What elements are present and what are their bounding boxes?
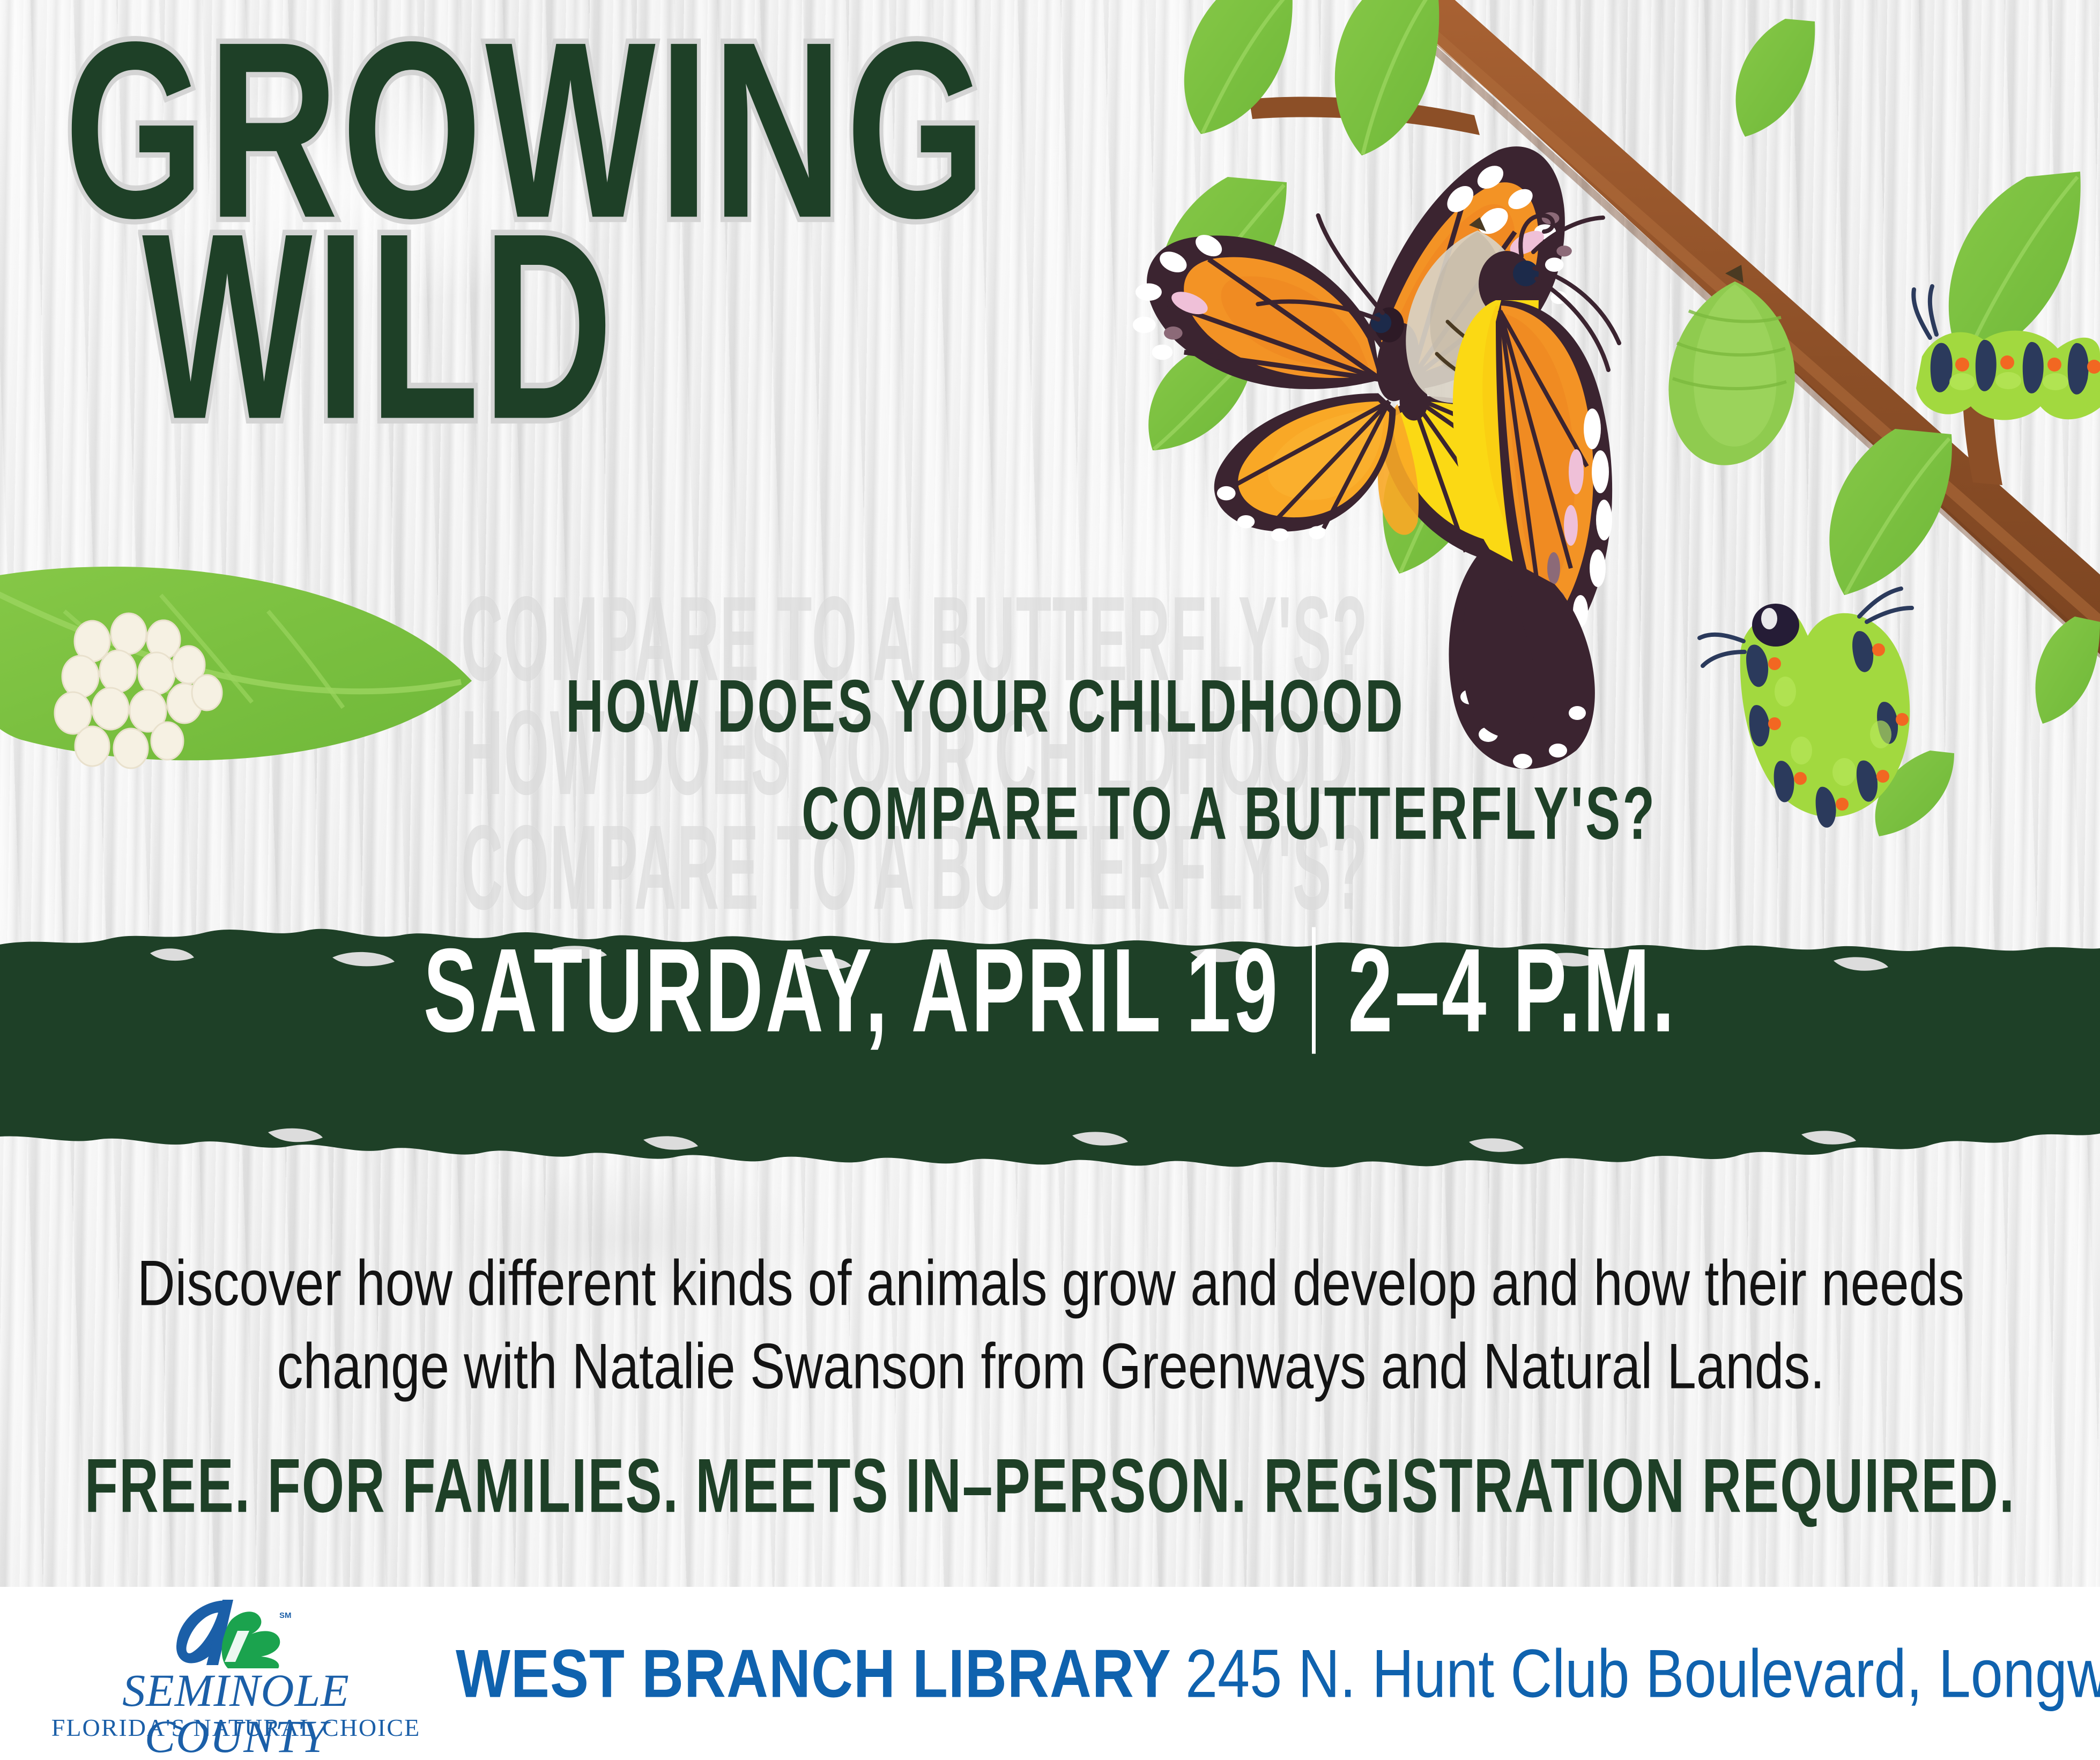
logo-sm-mark: SM <box>279 1611 292 1620</box>
footer-bar: SM SEMINOLE COUNTY FLORIDA'S NATURAL CHO… <box>0 1587 2100 1760</box>
footer-address-row: WEST BRANCH LIBRARY 245 N. Hunt Club Bou… <box>456 1634 2100 1713</box>
logo-name-text: SEMINOLE COUNTY <box>43 1667 429 1759</box>
subtitle-line-2: COMPARE TO A BUTTERFLY'S? <box>802 770 1657 856</box>
event-details-line: FREE. FOR FAMILIES. MEETS IN–PERSON. REG… <box>0 1442 2100 1530</box>
poster-title: GROWING WILD <box>64 24 971 363</box>
seminole-county-logo: SM SEMINOLE COUNTY FLORIDA'S NATURAL CHO… <box>32 1593 440 1754</box>
flyer-poster: COMPARE TO A BUTTERFLY'S? HOW DOES YOUR … <box>0 0 2100 1760</box>
logo-tagline-text: FLORIDA'S NATURAL CHOICE <box>43 1716 429 1740</box>
title-line-2: WILD <box>142 214 988 437</box>
library-name: WEST BRANCH LIBRARY <box>456 1634 1171 1713</box>
date-time-banner <box>0 911 2100 1179</box>
county-logo-mark-icon: SM <box>169 1596 319 1672</box>
library-address: 245 N. Hunt Club Boulevard, Longwood <box>1185 1634 2100 1713</box>
subtitle-line-1: HOW DOES YOUR CHILDHOOD <box>566 663 1405 749</box>
event-description: Discover how different kinds of animals … <box>80 1242 2021 1408</box>
